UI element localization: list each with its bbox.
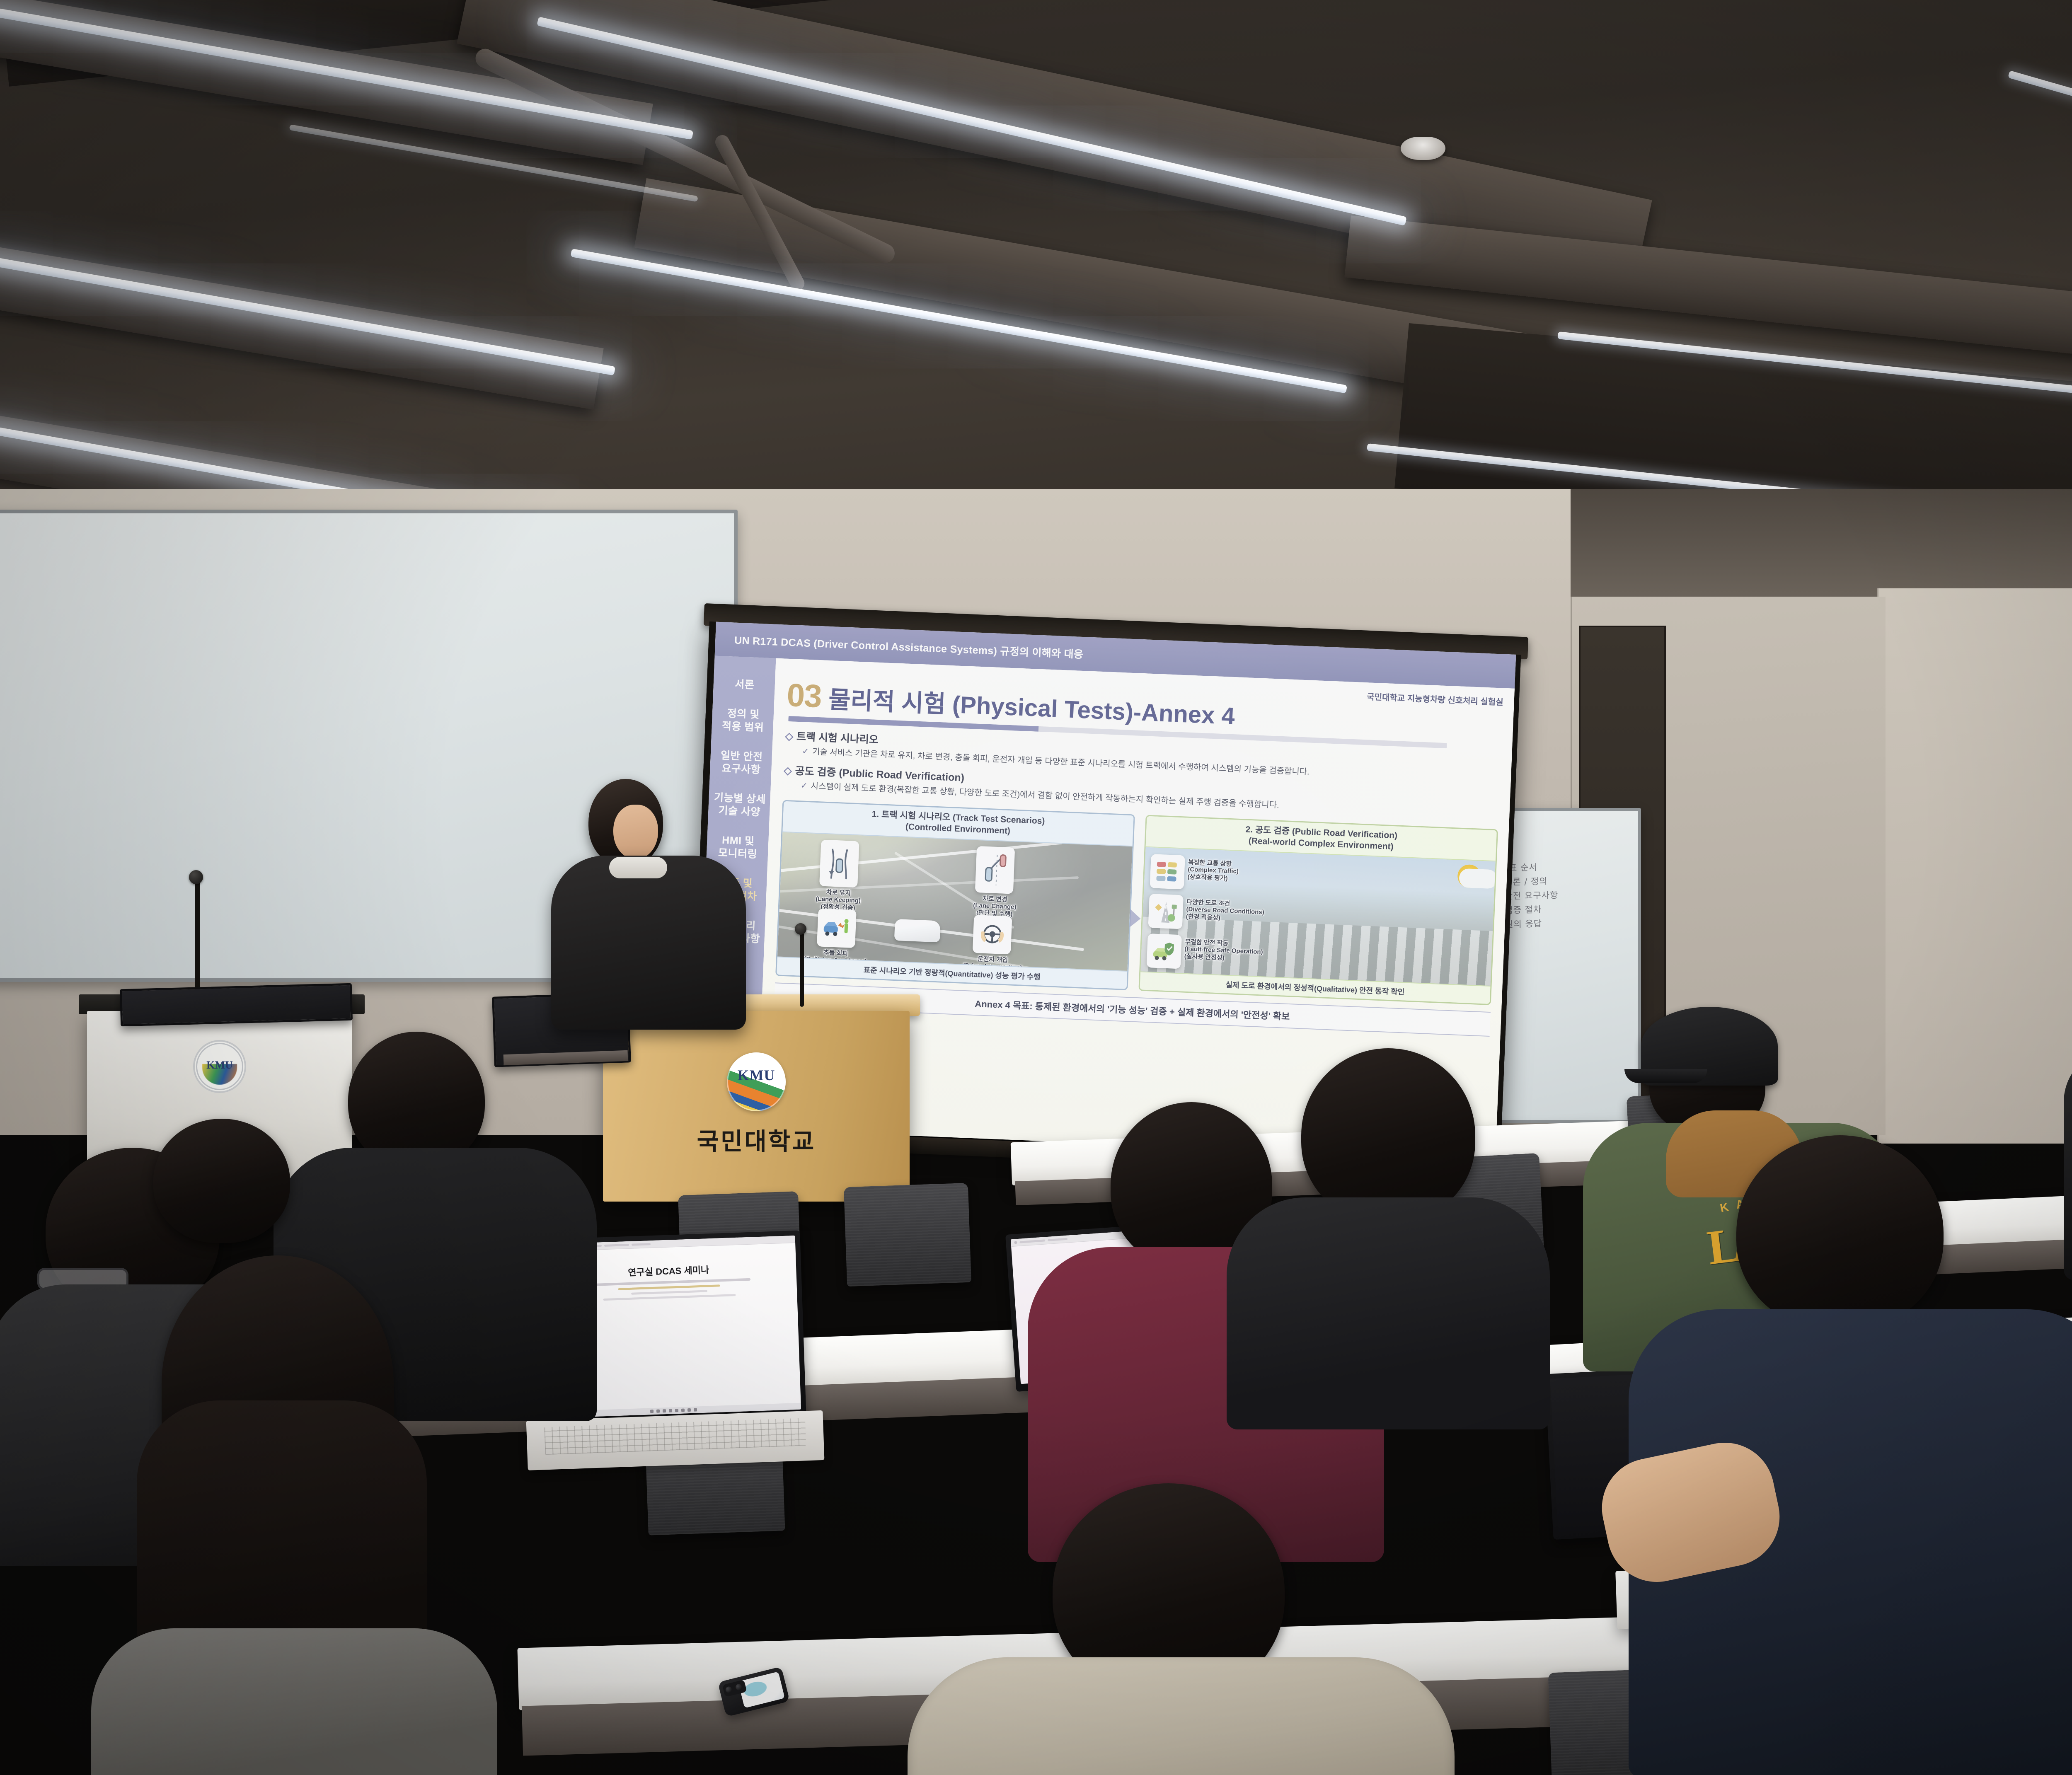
complex-traffic-caption: 복잡한 교통 상황 (Complex Traffic) (상호작용 평가) [1187, 859, 1292, 885]
right-wall-panel [1877, 588, 2072, 1144]
complex-traffic-icon [1150, 854, 1185, 889]
public-road-illustration: 복잡한 교통 상황 (Complex Traffic) (상호작용 평가) 다양… [1140, 847, 1496, 985]
lane-keeping-icon [819, 839, 859, 888]
presenter-face [613, 805, 658, 859]
lectern-monitor[interactable] [120, 983, 353, 1027]
attendee-center-mid [1227, 1048, 1550, 1421]
attendee-rear-left [153, 1119, 327, 1260]
microphone-stand [800, 932, 804, 1007]
slide-header-title: UN R171 DCAS (Driver Control Assistance … [734, 632, 1084, 662]
cloud-icon [1459, 868, 1496, 889]
driver-intervention-icon [973, 915, 1012, 955]
attendee-front-left [66, 1255, 506, 1775]
diamond-bullet-icon: ◇ [784, 765, 792, 777]
podium-university-name: 국민대학교 [603, 1122, 910, 1157]
presenter [551, 779, 758, 1011]
slide-section-number: 03 [786, 680, 822, 711]
sidebar-item-definitions[interactable]: 정의 및 적용 범위 [716, 707, 770, 735]
panel-public-road: 2. 공도 검증 (Public Road Verification) (Rea… [1138, 815, 1498, 1005]
presenter-collar [609, 857, 667, 878]
kmu-logo-text: KMU [727, 1066, 786, 1084]
check-bullet-icon: ✓ [800, 781, 808, 791]
diamond-bullet-icon: ◇ [785, 730, 793, 742]
track-test-illustration: 차로 유지 (Lane Keeping) (정확성 검증) 차로 변경 (Lan… [777, 832, 1133, 970]
lane-change-icon [975, 846, 1015, 894]
collision-avoidance-icon [817, 908, 857, 948]
seal-text: KMU [193, 1059, 246, 1071]
kookmin-university-seal: KMU [193, 1040, 246, 1093]
arrow-right-icon [1130, 909, 1141, 928]
test-vehicle [894, 919, 941, 942]
ceiling-light [2008, 70, 2072, 180]
kmu-globe-logo: KMU [727, 1052, 786, 1111]
attendee-front-center [854, 1483, 1475, 1775]
microphone-icon [795, 923, 806, 935]
sidebar-item-safety-reqs[interactable]: 일반 안전 요구사항 [714, 749, 769, 777]
sherpa-fleece [908, 1657, 1455, 1775]
presenter-body [551, 856, 746, 1030]
upper-wall-band [1571, 489, 2072, 605]
microphone-icon [189, 870, 203, 884]
panel-track-test: 1. 트랙 시험 시나리오 (Track Test Scenarios) (Co… [775, 800, 1135, 990]
fault-free-icon [1147, 933, 1182, 969]
podium: KMU 국민대학교 [603, 1011, 910, 1202]
diverse-road-icon [1148, 894, 1184, 929]
smoke-detector-icon [1401, 137, 1445, 160]
attendee-navy-sweater [1629, 1135, 2072, 1775]
microphone-stand [195, 878, 200, 1003]
panels-row: 1. 트랙 시험 시나리오 (Track Test Scenarios) (Co… [775, 800, 1498, 1005]
sidebar-item-intro[interactable]: 서론 [717, 677, 772, 692]
seminar-room-scene: • 발표 순서 1. 서론 / 정의 2. 안전 요구사항 3. 검증 절차 4… [0, 0, 2072, 1775]
chair[interactable] [844, 1183, 971, 1287]
check-bullet-icon: ✓ [802, 747, 809, 756]
